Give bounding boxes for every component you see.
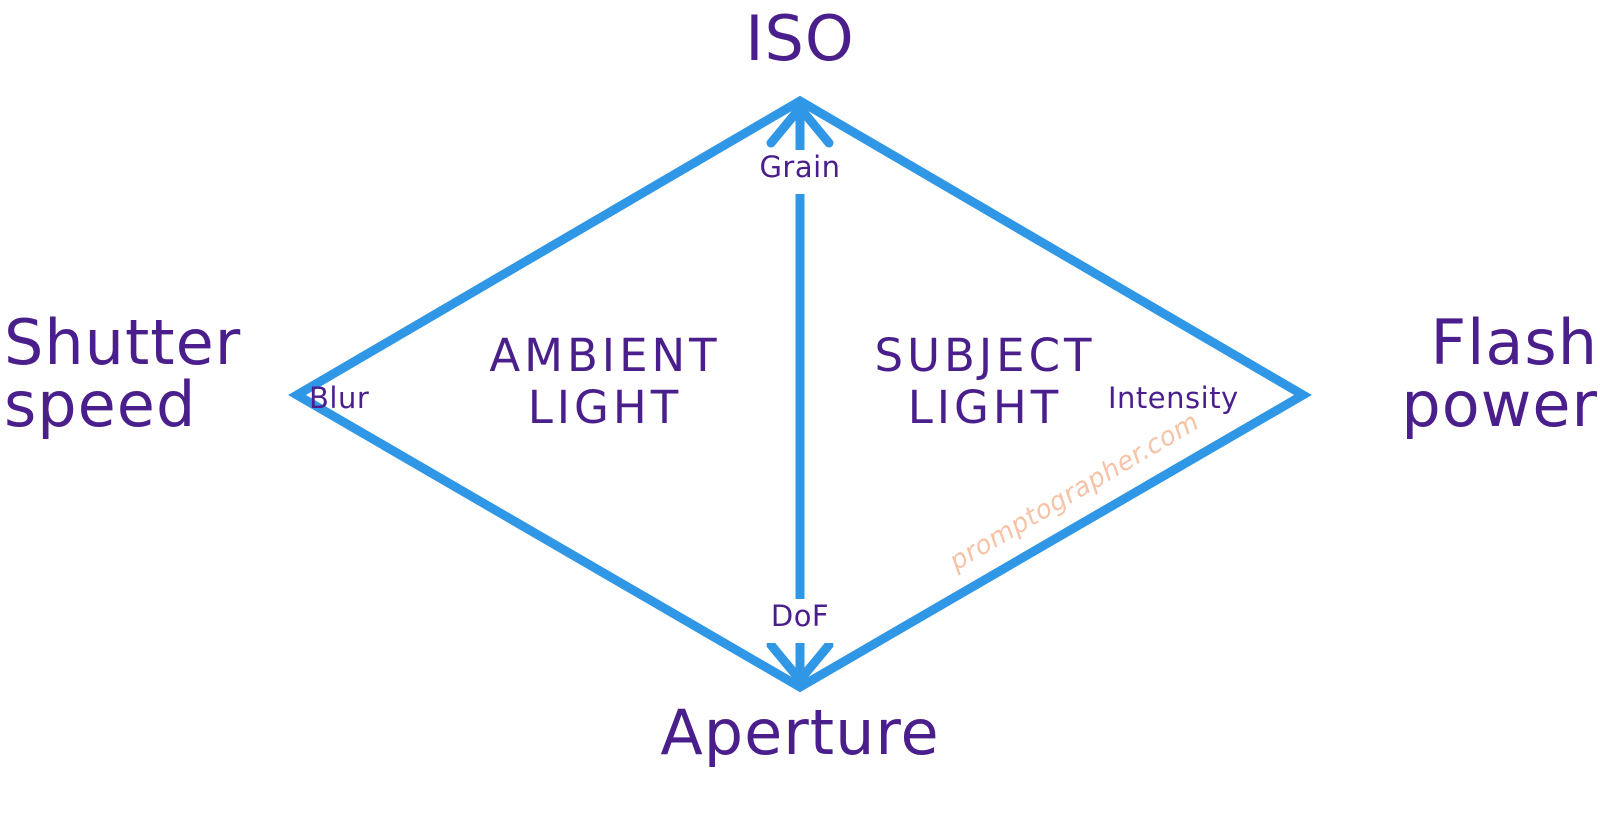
- zone-label-subject-line2: LIGHT: [908, 381, 1063, 434]
- zone-label-ambient-line1: AMBIENT: [489, 329, 720, 382]
- vertex-label-iso: ISO: [0, 6, 1600, 71]
- zone-label-subject-line1: SUBJECT: [875, 329, 1096, 382]
- diagram-canvas: ISO Shutterspeed Flashpower Aperture AMB…: [0, 0, 1600, 819]
- vertex-label-shutter-speed: Shutterspeed: [4, 312, 304, 436]
- edge-label-blur: Blur: [309, 383, 449, 413]
- vertex-label-shutter-line2: speed: [4, 368, 196, 441]
- edge-label-dof: DoF: [700, 601, 900, 631]
- vertex-label-aperture: Aperture: [0, 700, 1600, 765]
- zone-label-ambient-light: AMBIENTLIGHT: [455, 330, 755, 434]
- vertex-label-flash-line2: power: [1401, 368, 1598, 441]
- zone-label-ambient-line2: LIGHT: [528, 381, 683, 434]
- edge-label-intensity: Intensity: [1108, 383, 1308, 413]
- vertex-label-flash-power: Flashpower: [1288, 312, 1598, 436]
- edge-label-grain: Grain: [700, 152, 900, 182]
- zone-label-subject-light: SUBJECTLIGHT: [835, 330, 1135, 434]
